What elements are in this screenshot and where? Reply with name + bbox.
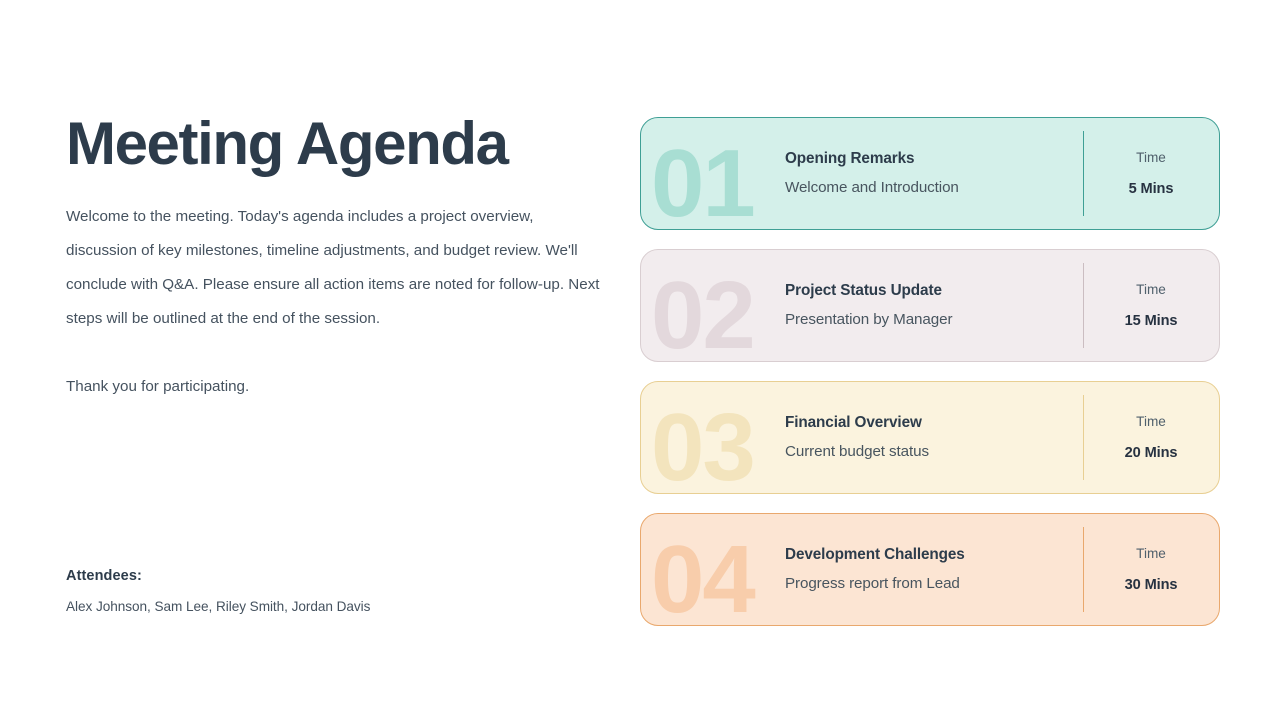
agenda-card-body: Opening Remarks Welcome and Introduction	[641, 118, 1083, 229]
agenda-card-time-column: Time 15 Mins	[1083, 250, 1219, 361]
attendees-heading: Attendees:	[66, 568, 611, 584]
agenda-card-subtitle: Presentation by Manager	[785, 311, 1083, 329]
agenda-card-list: 01 Opening Remarks Welcome and Introduct…	[640, 117, 1220, 626]
agenda-card-03[interactable]: 03 Financial Overview Current budget sta…	[640, 381, 1220, 494]
agenda-card-04[interactable]: 04 Development Challenges Progress repor…	[640, 513, 1220, 626]
agenda-card-body: Project Status Update Presentation by Ma…	[641, 250, 1083, 361]
vertical-divider	[1083, 527, 1084, 612]
agenda-card-time-label: Time	[1136, 282, 1166, 297]
page-title: Meeting Agenda	[66, 112, 611, 176]
slide-root: Meeting Agenda Welcome to the meeting. T…	[0, 0, 1280, 720]
agenda-card-subtitle: Welcome and Introduction	[785, 179, 1083, 197]
agenda-card-time-column: Time 20 Mins	[1083, 382, 1219, 493]
agenda-card-time-label: Time	[1136, 546, 1166, 561]
agenda-card-duration: 30 Mins	[1125, 577, 1178, 593]
agenda-card-body: Financial Overview Current budget status	[641, 382, 1083, 493]
agenda-card-duration: 15 Mins	[1125, 313, 1178, 329]
agenda-card-subtitle: Progress report from Lead	[785, 575, 1083, 593]
agenda-card-title: Project Status Update	[785, 282, 1083, 300]
agenda-card-duration: 5 Mins	[1129, 181, 1174, 197]
agenda-card-duration: 20 Mins	[1125, 445, 1178, 461]
vertical-divider	[1083, 131, 1084, 216]
agenda-card-time-label: Time	[1136, 414, 1166, 429]
thanks-paragraph: Thank you for participating.	[66, 370, 611, 404]
attendees-block: Attendees: Alex Johnson, Sam Lee, Riley …	[66, 568, 611, 614]
agenda-card-title: Financial Overview	[785, 414, 1083, 432]
agenda-card-01[interactable]: 01 Opening Remarks Welcome and Introduct…	[640, 117, 1220, 230]
agenda-card-subtitle: Current budget status	[785, 443, 1083, 461]
vertical-divider	[1083, 263, 1084, 348]
intro-paragraph: Welcome to the meeting. Today's agenda i…	[66, 200, 606, 336]
agenda-card-time-column: Time 5 Mins	[1083, 118, 1219, 229]
agenda-card-02[interactable]: 02 Project Status Update Presentation by…	[640, 249, 1220, 362]
left-content-column: Meeting Agenda Welcome to the meeting. T…	[66, 112, 611, 404]
agenda-card-time-label: Time	[1136, 150, 1166, 165]
agenda-card-time-column: Time 30 Mins	[1083, 514, 1219, 625]
agenda-card-title: Development Challenges	[785, 546, 1083, 564]
agenda-card-body: Development Challenges Progress report f…	[641, 514, 1083, 625]
attendees-names: Alex Johnson, Sam Lee, Riley Smith, Jord…	[66, 599, 611, 614]
agenda-card-title: Opening Remarks	[785, 150, 1083, 168]
vertical-divider	[1083, 395, 1084, 480]
